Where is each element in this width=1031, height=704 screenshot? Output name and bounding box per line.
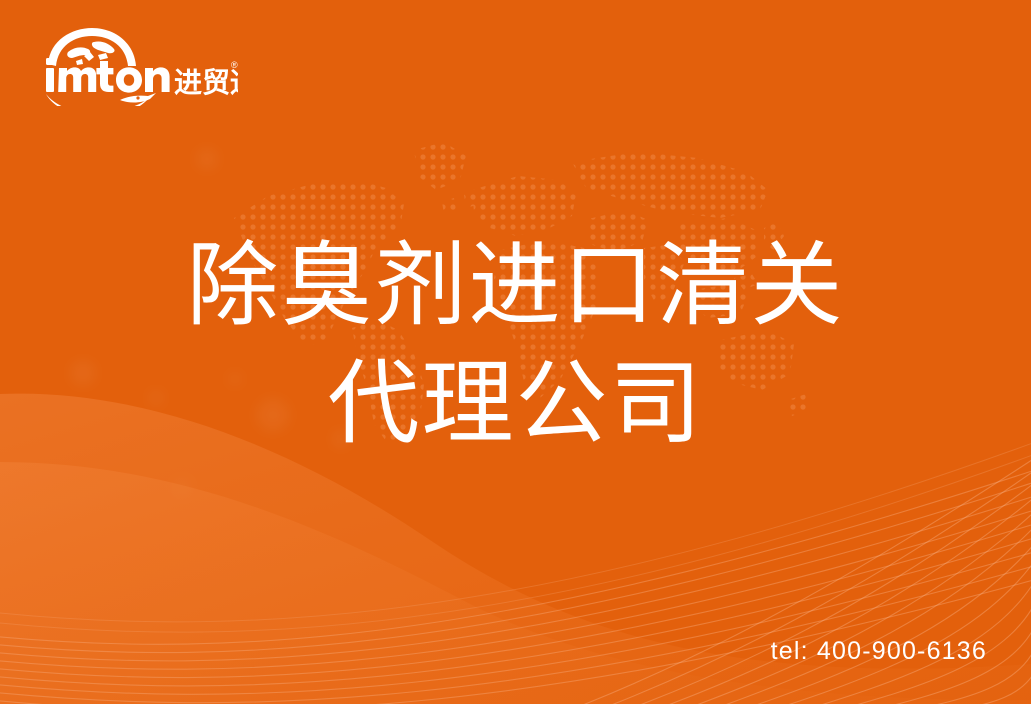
brand-logo[interactable]: 进贸通 ®: [38, 28, 238, 106]
page-title: 除臭剂进口清关 代理公司: [0, 228, 1031, 464]
swoosh-arrow-icon: [46, 93, 156, 106]
logo-artwork: 进贸通 ®: [38, 28, 238, 106]
logo-wordmark: [46, 58, 170, 93]
contact-phone[interactable]: tel: 400-900-6136: [771, 637, 987, 666]
promo-banner: 进贸通 ® 除臭剂进口清关 代理公司 tel: 400-900-6136: [0, 0, 1031, 704]
logo-trademark-symbol: ®: [231, 60, 238, 70]
globe-dome-icon: [48, 28, 136, 66]
headline-line-1: 除臭剂进口清关: [0, 228, 1031, 346]
headline-line-2: 代理公司: [0, 346, 1031, 464]
logo-chinese-text: 进贸通: [174, 66, 238, 99]
